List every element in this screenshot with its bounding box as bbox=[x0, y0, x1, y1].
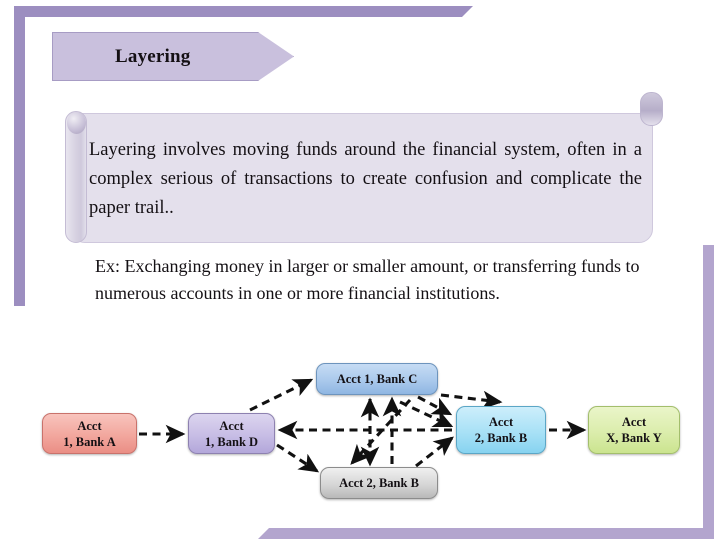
decoration-bar-top bbox=[14, 6, 473, 17]
node-acct-1-bank-a[interactable]: Acct 1, Bank A bbox=[42, 413, 137, 454]
scroll-curl-right-icon bbox=[640, 92, 663, 126]
node-acct-x-bank-y[interactable]: Acct X, Bank Y bbox=[588, 406, 680, 454]
edge-c-to-b2-outer bbox=[441, 395, 500, 402]
edge-c-to-b2-mid bbox=[400, 402, 451, 426]
node-acct-2-bank-b-gray[interactable]: Acct 2, Bank B bbox=[320, 467, 438, 499]
node-line-2: 1, Bank A bbox=[63, 434, 115, 450]
edge-c-to-gray-diagonal bbox=[352, 400, 410, 463]
body-text: Layering involves moving funds around th… bbox=[89, 136, 642, 223]
node-acct-1-bank-c[interactable]: Acct 1, Bank C bbox=[316, 363, 438, 395]
flow-diagram: Acct 1, Bank A Acct 1, Bank D Acct 1, Ba… bbox=[0, 350, 728, 515]
node-line-2: 2, Bank B bbox=[475, 430, 527, 446]
node-acct-1-bank-d[interactable]: Acct 1, Bank D bbox=[188, 413, 275, 454]
edge-d-to-gray bbox=[277, 445, 317, 471]
node-line-1: Acct bbox=[219, 418, 243, 434]
decoration-bar-bottom bbox=[258, 528, 714, 539]
node-line-2: X, Bank Y bbox=[606, 430, 661, 446]
node-line-2: 1, Bank D bbox=[205, 434, 258, 450]
node-acct-2-bank-b[interactable]: Acct 2, Bank B bbox=[456, 406, 546, 454]
scroll-callout: Layering involves moving funds around th… bbox=[57, 108, 667, 243]
title-banner: Layering bbox=[52, 32, 294, 81]
page-title: Layering bbox=[115, 46, 191, 68]
node-line-1: Acct 2, Bank B bbox=[339, 475, 419, 491]
node-line-1: Acct 1, Bank C bbox=[337, 371, 418, 387]
node-line-1: Acct bbox=[77, 418, 101, 434]
edge-d-to-c bbox=[250, 380, 311, 410]
decoration-bar-left bbox=[14, 6, 25, 306]
slide-canvas: Layering Layering involves moving funds … bbox=[0, 0, 728, 546]
node-line-1: Acct bbox=[489, 414, 513, 430]
edge-c-to-b2-inner bbox=[418, 397, 450, 414]
scroll-curl-knob-icon bbox=[67, 112, 86, 134]
example-text: Ex: Exchanging money in larger or smalle… bbox=[95, 253, 667, 307]
edge-gray-to-b2 bbox=[416, 438, 452, 466]
node-line-1: Acct bbox=[622, 414, 646, 430]
